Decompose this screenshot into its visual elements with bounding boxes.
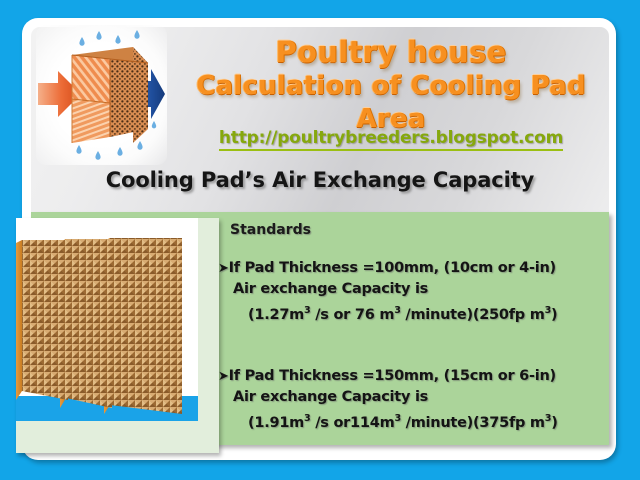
standards-content: Standards ➤If Pad Thickness =100mm, (10c…	[218, 222, 610, 434]
blog-url-link[interactable]: http://poultrybreeders.blogspot.com	[219, 128, 563, 151]
standard-1-v3: /minute)(250fp m	[401, 307, 545, 323]
subheading: Cooling Pad’s Air Exchange Capacity	[31, 168, 609, 192]
standard-2-v2: /s or114m	[310, 415, 394, 431]
standard-item-2: ➤If Pad Thickness =150mm, (15cm or 6-in)…	[218, 366, 610, 434]
bullet-arrow-icon: ➤	[218, 369, 229, 384]
standard-1-v4: )	[551, 307, 557, 323]
standard-2-line1: ➤If Pad Thickness =150mm, (15cm or 6-in)	[218, 366, 610, 387]
standard-1-thickness-text: If Pad Thickness =100mm, (10cm or 4-in)	[229, 260, 556, 276]
standard-1-line2: Air exchange Capacity is	[218, 279, 610, 300]
standard-2-v3: /minute)(375fp m	[401, 415, 545, 431]
standard-item-1: ➤If Pad Thickness =100mm, (10cm or 4-in)…	[218, 258, 610, 326]
pad-panel-3	[104, 238, 182, 414]
page-title-line2: Calculation of Cooling Pad Area	[175, 70, 607, 136]
cooling-pad-panels-illustration	[16, 218, 219, 453]
standard-1-v2: /s or 76 m	[310, 307, 394, 323]
slide-root: Poultry house Calculation of Cooling Pad…	[0, 0, 640, 480]
url-line: http://poultrybreeders.blogspot.com	[175, 128, 607, 151]
standard-2-v4: )	[551, 415, 557, 431]
cooling-pad-block-illustration	[36, 25, 167, 165]
standard-1-v1: (1.27m	[248, 307, 304, 323]
pad-panel-1	[16, 240, 68, 400]
page-title-line1: Poultry house	[175, 34, 607, 70]
standard-2-value: (1.91m3 /s or114m3 /minute)(375fp m3)	[218, 408, 610, 434]
standard-1-line1: ➤If Pad Thickness =100mm, (10cm or 4-in)	[218, 258, 610, 279]
standard-2-line2: Air exchange Capacity is	[218, 387, 610, 408]
cooling-pad-panels-svg	[16, 218, 219, 453]
standards-label: Standards	[230, 222, 610, 238]
standard-1-value: (1.27m3 /s or 76 m3 /minute)(250fp m3)	[218, 300, 610, 326]
cooling-pad-block-svg	[36, 25, 167, 165]
standard-2-thickness-text: If Pad Thickness =150mm, (15cm or 6-in)	[229, 368, 556, 384]
title-group: Poultry house Calculation of Cooling Pad…	[175, 34, 607, 136]
standard-2-v1: (1.91m	[248, 415, 304, 431]
bullet-arrow-icon: ➤	[218, 261, 229, 276]
